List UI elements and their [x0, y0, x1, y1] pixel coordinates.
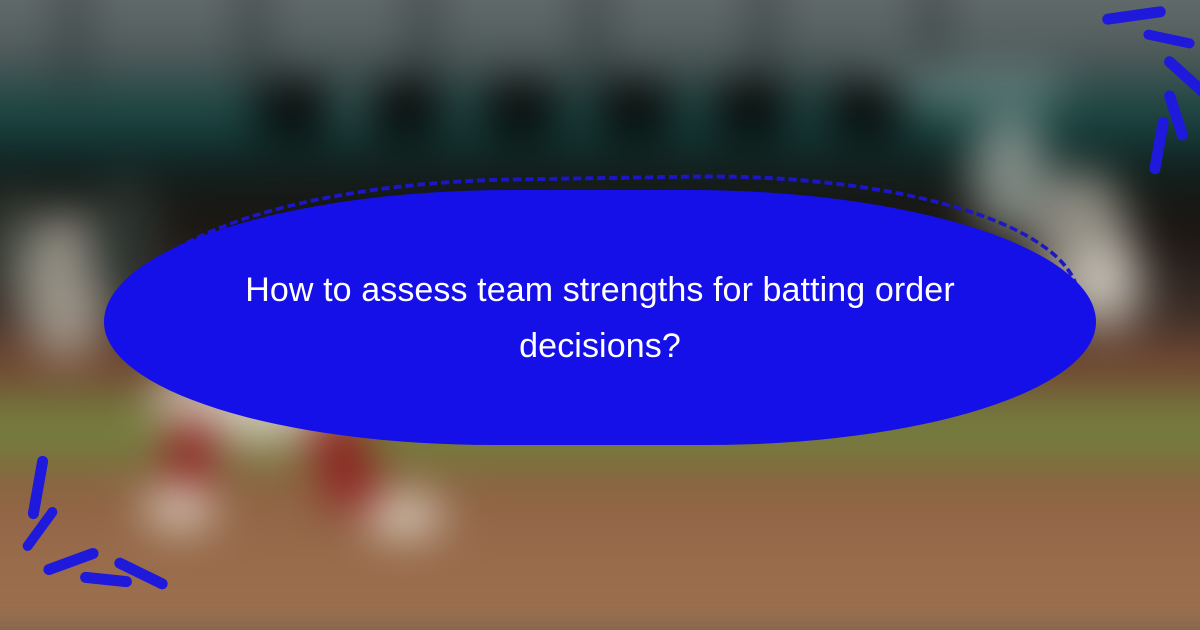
- burst-ray: [21, 505, 60, 553]
- dugout-opening: [715, 80, 787, 136]
- stand-pillar: [410, 0, 436, 90]
- burst-ray: [80, 571, 133, 587]
- burst-ray: [27, 455, 49, 520]
- top-right-burst: [1040, 0, 1200, 170]
- burst-ray: [1102, 6, 1167, 26]
- stand-pillar: [240, 0, 266, 90]
- dugout-opening: [370, 80, 442, 136]
- stand-pillar: [750, 0, 776, 90]
- bottom-left-burst: [0, 462, 160, 630]
- dugout-opening: [600, 80, 672, 136]
- page-title: How to assess team strengths for batting…: [220, 262, 980, 374]
- dugout-opening: [258, 80, 330, 136]
- stand-pillar: [60, 0, 86, 90]
- dugout-opening: [485, 80, 557, 136]
- dugout-opening: [830, 80, 902, 136]
- headline-wrapper: How to assess team strengths for batting…: [220, 262, 980, 374]
- stand-pillar: [580, 0, 606, 90]
- question-blob: How to assess team strengths for batting…: [104, 190, 1096, 445]
- burst-ray: [1149, 116, 1170, 175]
- question-card-canvas: How to assess team strengths for batting…: [0, 0, 1200, 630]
- batter-shoe-right: [365, 495, 443, 535]
- burst-ray: [1143, 29, 1196, 50]
- burst-ray: [1163, 89, 1190, 142]
